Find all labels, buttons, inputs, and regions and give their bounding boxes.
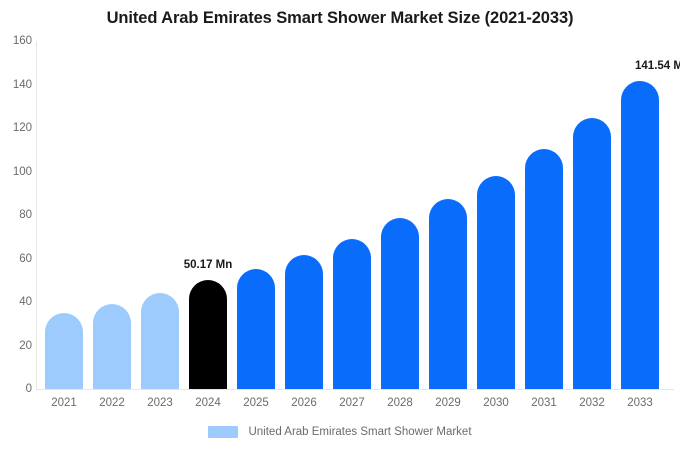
bar-rect-2031[interactable]: [525, 149, 563, 389]
bar-2026[interactable]: [285, 41, 323, 389]
bar-rect-2033[interactable]: [621, 81, 659, 389]
bar-rect-2032[interactable]: [573, 118, 611, 389]
x-axis-tick-2032: 2032: [568, 397, 616, 409]
bar-rect-2030[interactable]: [477, 176, 515, 389]
legend-swatch-icon: [208, 426, 238, 438]
y-axis-tick-160: 160: [2, 35, 32, 47]
y-axis-tick-140: 140: [2, 79, 32, 91]
y-axis-tick-20: 20: [2, 340, 32, 352]
bar-rect-2028[interactable]: [381, 218, 419, 389]
bar-chart: United Arab Emirates Smart Shower Market…: [0, 0, 680, 450]
bar-rect-2025[interactable]: [237, 269, 275, 389]
y-axis-tick-40: 40: [2, 296, 32, 308]
y-axis-tick-0: 0: [2, 383, 32, 395]
bar-value-label-2033: 141.54 Mn: [635, 60, 680, 72]
bar-2024[interactable]: 50.17 Mn: [189, 41, 227, 389]
bar-2025[interactable]: [237, 41, 275, 389]
x-axis-tick-2022: 2022: [88, 397, 136, 409]
plot-area: 50.17 Mn141.54 Mn: [36, 41, 672, 389]
bar-2030[interactable]: [477, 41, 515, 389]
x-axis-tick-2028: 2028: [376, 397, 424, 409]
y-axis-tick-labels: 020406080100120140160: [0, 0, 32, 450]
bar-rect-2021[interactable]: [45, 313, 83, 389]
x-axis-tick-2023: 2023: [136, 397, 184, 409]
x-axis-tick-2030: 2030: [472, 397, 520, 409]
x-axis-tick-2033: 2033: [616, 397, 664, 409]
bar-2021[interactable]: [45, 41, 83, 389]
bar-2031[interactable]: [525, 41, 563, 389]
y-axis-tick-120: 120: [2, 122, 32, 134]
bar-value-label-2024: 50.17 Mn: [184, 259, 233, 271]
chart-legend: United Arab Emirates Smart Shower Market: [0, 426, 680, 438]
x-axis-line: [36, 389, 674, 390]
x-axis-tick-2026: 2026: [280, 397, 328, 409]
y-axis-tick-60: 60: [2, 253, 32, 265]
bar-2022[interactable]: [93, 41, 131, 389]
bar-rect-2029[interactable]: [429, 199, 467, 389]
bar-2032[interactable]: [573, 41, 611, 389]
x-axis-tick-2025: 2025: [232, 397, 280, 409]
bar-rect-2026[interactable]: [285, 255, 323, 389]
x-axis-tick-2031: 2031: [520, 397, 568, 409]
bar-2027[interactable]: [333, 41, 371, 389]
bar-2033[interactable]: 141.54 Mn: [621, 41, 659, 389]
x-axis-tick-2021: 2021: [40, 397, 88, 409]
bar-2028[interactable]: [381, 41, 419, 389]
x-axis-tick-2027: 2027: [328, 397, 376, 409]
x-axis-tick-2024: 2024: [184, 397, 232, 409]
bar-2023[interactable]: [141, 41, 179, 389]
bar-rect-2027[interactable]: [333, 239, 371, 389]
chart-title: United Arab Emirates Smart Shower Market…: [0, 9, 680, 28]
bar-rect-2023[interactable]: [141, 293, 179, 389]
y-axis-tick-80: 80: [2, 209, 32, 221]
y-axis-tick-100: 100: [2, 166, 32, 178]
bar-2029[interactable]: [429, 41, 467, 389]
legend-item-label: United Arab Emirates Smart Shower Market: [248, 426, 471, 438]
bar-rect-2024[interactable]: [189, 280, 227, 389]
bar-rect-2022[interactable]: [93, 304, 131, 389]
x-axis-tick-2029: 2029: [424, 397, 472, 409]
